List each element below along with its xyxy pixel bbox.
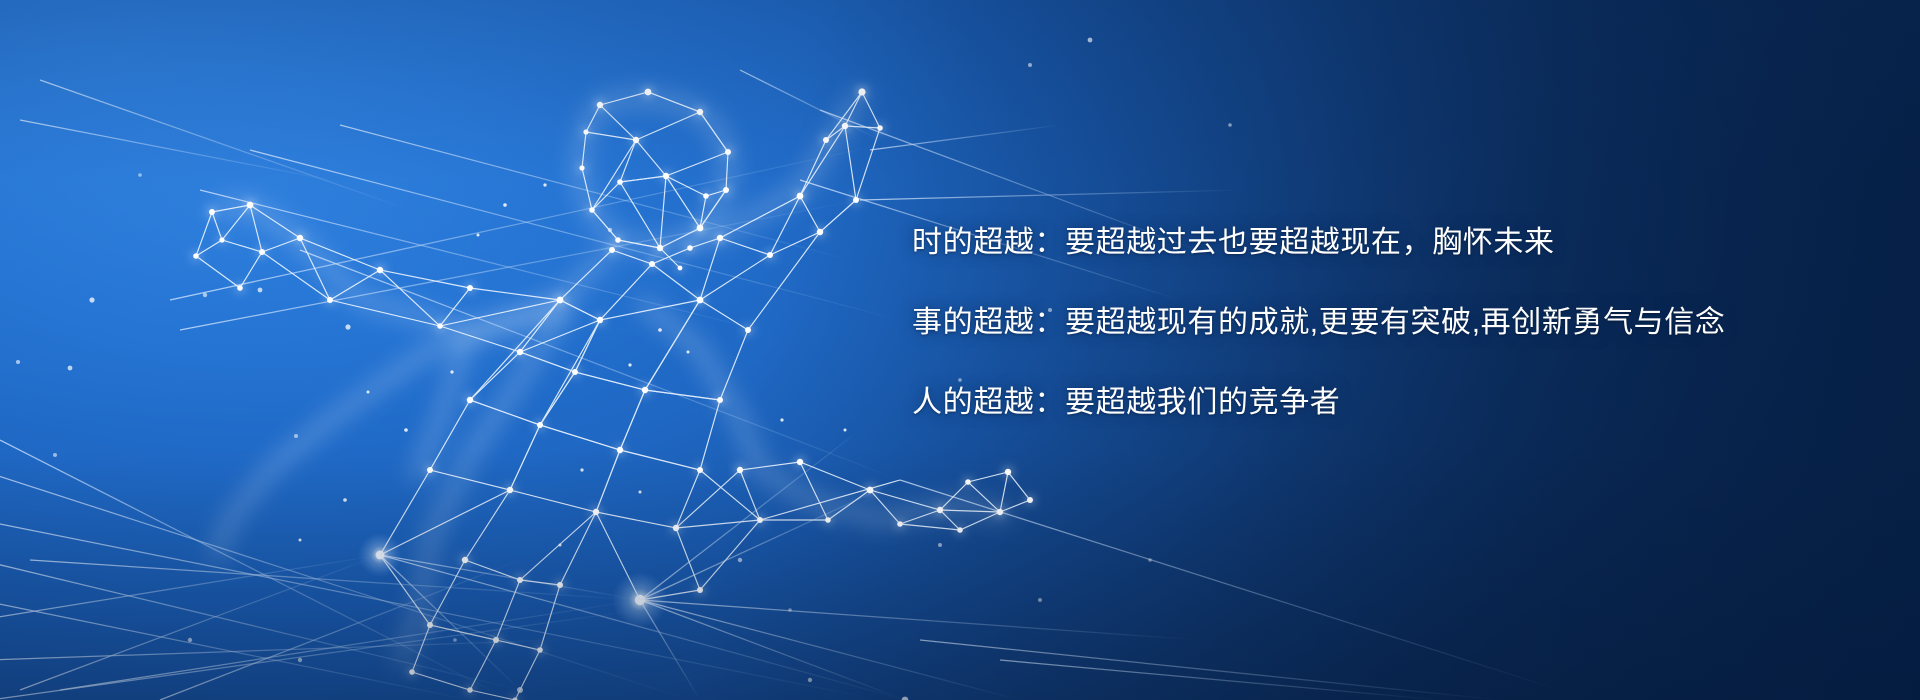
hero-banner: 时的超越：要超越过去也要超越现在，胸怀未来 事的超越：要超越现有的成就,更要有突… [0, 0, 1920, 700]
slogan-line-people: 人的超越：要超越我们的竞争者 [912, 388, 1792, 418]
slogan-line-time: 时的超越：要超越过去也要超越现在，胸怀未来 [912, 228, 1792, 258]
slogan-line-matter: 事的超越：要超越现有的成就,更要有突破,再创新勇气与信念 [912, 308, 1792, 338]
slogan-block: 时的超越：要超越过去也要超越现在，胸怀未来 事的超越：要超越现有的成就,更要有突… [912, 228, 1792, 418]
